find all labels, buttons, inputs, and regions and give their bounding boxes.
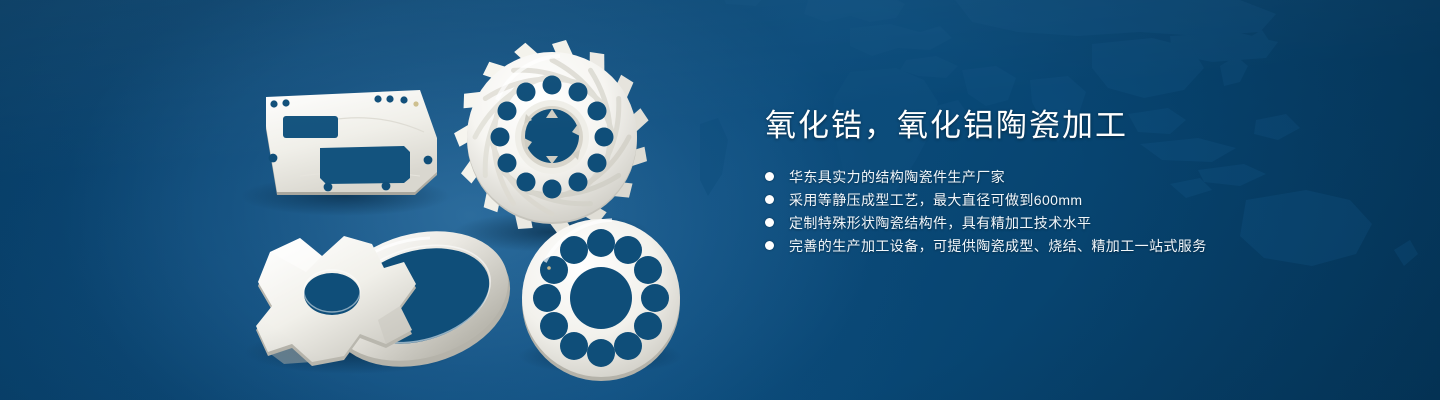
feature-item-3: 定制特殊形状陶瓷结构件，具有精加工技术水平: [765, 216, 1365, 230]
feature-item-2-label: 采用等静压成型工艺，最大直径可做到600mm: [789, 192, 1082, 208]
bullet-dot-icon: [765, 172, 774, 181]
feature-item-1-label: 华东具实力的结构陶瓷件生产厂家: [789, 169, 1005, 185]
feature-item-2: 采用等静压成型工艺，最大直径可做到600mm: [765, 193, 1365, 207]
banner-copy: 氧化锆，氧化铝陶瓷加工 华东具实力的结构陶瓷件生产厂家 采用等静压成型工艺，最大…: [765, 104, 1365, 262]
ceramic-parts-artwork: [0, 0, 760, 400]
banner-headline: 氧化锆，氧化铝陶瓷加工: [765, 104, 1365, 148]
feature-item-3-label: 定制特殊形状陶瓷结构件，具有精加工技术水平: [789, 215, 1091, 231]
feature-item-1: 华东具实力的结构陶瓷件生产厂家: [765, 170, 1365, 184]
feature-item-4-label: 完善的生产加工设备，可提供陶瓷成型、烧结、精加工一站式服务: [789, 238, 1207, 254]
bullet-dot-icon: [765, 218, 774, 227]
hero-banner: 氧化锆，氧化铝陶瓷加工 华东具实力的结构陶瓷件生产厂家 采用等静压成型工艺，最大…: [0, 0, 1440, 400]
bullet-dot-icon: [765, 195, 774, 204]
ceramic-base-plate: [266, 90, 437, 195]
ceramic-impeller-disc: [453, 39, 652, 237]
banner-feature-list: 华东具实力的结构陶瓷件生产厂家 采用等静压成型工艺，最大直径可做到600mm 定…: [765, 170, 1365, 253]
feature-item-4: 完善的生产加工设备，可提供陶瓷成型、烧结、精加工一站式服务: [765, 239, 1365, 253]
ceramic-perforated-disc: [522, 219, 680, 381]
bullet-dot-icon: [765, 241, 774, 250]
